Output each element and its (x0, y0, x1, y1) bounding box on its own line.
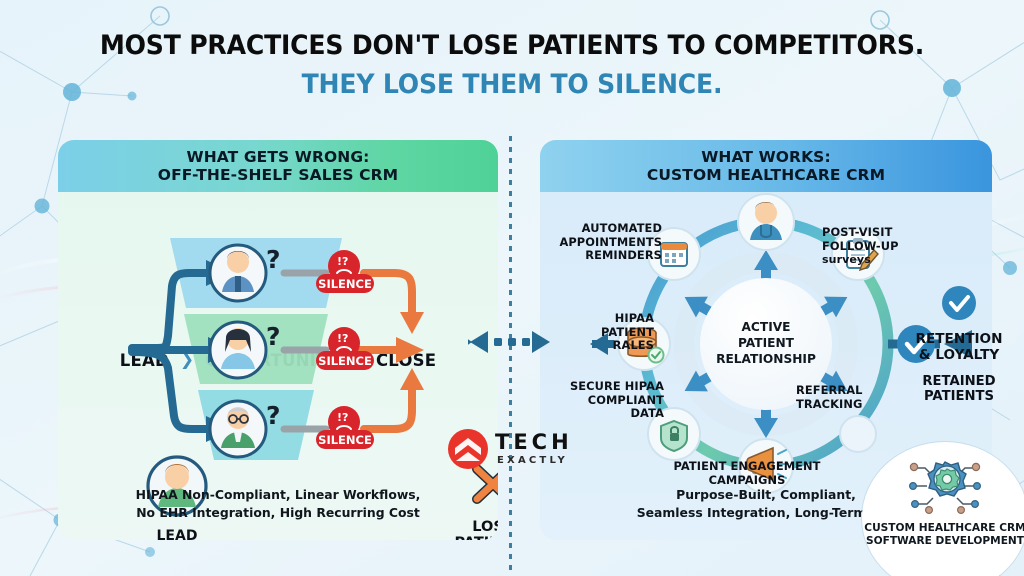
retention-outcome: RETENTION & LOYALTY RETAINED PATIENTS (900, 285, 1018, 405)
secure-line-2: COMPLIANT (546, 394, 664, 408)
auto-line-2: APPOINTMENTS (554, 236, 662, 250)
label-referral-tracking: REFERRAL TRACKING (796, 384, 896, 411)
left-footer-line-1: HIPAA Non-Compliant, Linear Workflows, (58, 486, 498, 504)
badge-caption: CUSTOM HEALTHCARE CRM SOFTWARE DEVELOPME… (864, 522, 1024, 548)
logo-name-top: TECH (495, 432, 573, 453)
left-panel-header-line-2: OFF-THE-SHELF SALES CRM (158, 166, 398, 184)
secure-line-1: SECURE HIPAA (546, 380, 664, 394)
right-panel-header-line-2: CUSTOM HEALTHCARE CRM (647, 166, 885, 184)
lost-patients-line-2: PATIENTS (443, 536, 498, 540)
gear-circuit-icon (903, 456, 987, 518)
right-panel-header-line-1: WHAT WORKS: (701, 148, 831, 166)
persona-avatar-2 (210, 322, 266, 378)
persona-avatar-1 (210, 245, 266, 301)
headline-line-1: MOST PRACTICES DON'T LOSE PATIENTS TO CO… (36, 30, 988, 61)
left-panel-header: WHAT GETS WRONG: OFF-THE-SHELF SALES CRM (58, 140, 498, 192)
referral-line-1: REFERRAL (796, 384, 896, 398)
lead-label: LEAD (146, 528, 208, 540)
lost-patients-line-1: LOST (443, 520, 498, 536)
hipaa-line-2: PATIENT (558, 326, 654, 340)
left-panel-footer: HIPAA Non-Compliant, Linear Workflows, N… (58, 486, 498, 522)
svg-text:!?: !? (337, 411, 348, 424)
tech-exactly-logo: TECH EXACTLY (447, 428, 573, 470)
auto-line-3: REMINDERS (554, 249, 662, 263)
svg-text:!?: !? (337, 255, 348, 268)
post-line-2: FOLLOW-UP (822, 240, 932, 254)
hipaa-line-1: HIPAA (558, 312, 654, 326)
hub-label: ACTIVE PATIENT RELATIONSHIP (706, 320, 826, 368)
svg-text:SILENCE: SILENCE (318, 354, 372, 368)
funnel-diagram: ? ? ? !? (58, 228, 498, 518)
retention-line-4: PATIENTS (900, 389, 1018, 404)
logo-mark-icon (447, 428, 489, 470)
label-hipaa-patient-rales: HIPAA PATIENT RALES (558, 312, 654, 353)
hub-line-2: PATIENT (706, 336, 826, 352)
question-mark-3: ? (266, 401, 281, 430)
label-automated-appointments: AUTOMATED APPOINTMENTS REMINDERS (554, 222, 662, 263)
headline-line-2: THEY LOSE THEM TO SILENCE. (36, 69, 988, 100)
lost-patients-label: LOST PATIENTS (443, 520, 498, 540)
badge-line-2: SOFTWARE DEVELOPMENT (864, 535, 1024, 548)
retention-line-1: RETENTION (900, 332, 1018, 348)
svg-text:SILENCE: SILENCE (318, 277, 372, 291)
secure-line-3: DATA (546, 407, 664, 421)
svg-text:SILENCE: SILENCE (318, 433, 372, 447)
left-panel-header-line-1: WHAT GETS WRONG: (187, 148, 370, 166)
post-sub: surveys (822, 253, 932, 266)
left-footer-line-2: No EHR Integration, High Recurring Cost (58, 504, 498, 522)
right-panel-header: WHAT WORKS: CUSTOM HEALTHCARE CRM (540, 140, 992, 192)
svg-text:!?: !? (337, 332, 348, 345)
question-mark-2: ? (266, 322, 281, 351)
hipaa-line-3: RALES (558, 339, 654, 353)
persona-avatar-3 (210, 401, 266, 457)
referral-line-2: TRACKING (796, 398, 896, 412)
engage-line-1: PATIENT ENGAGEMENT (652, 460, 842, 474)
bidirectional-arrow-icon (468, 327, 552, 357)
node-doctor-icon (738, 194, 794, 250)
hub-line-3: RELATIONSHIP (706, 352, 826, 368)
hub-line-1: ACTIVE (706, 320, 826, 336)
panel-off-the-shelf-crm: WHAT GETS WRONG: OFF-THE-SHELF SALES CRM… (58, 140, 498, 540)
retained-patients-label: RETAINED PATIENTS (900, 374, 1018, 404)
auto-line-1: AUTOMATED (554, 222, 662, 236)
label-secure-hipaa-data: SECURE HIPAA COMPLIANT DATA (546, 380, 664, 421)
post-line-1: POST-VISIT (822, 226, 932, 240)
question-mark-1: ? (266, 245, 281, 274)
check-circle-icon (941, 285, 977, 321)
retention-title: RETENTION & LOYALTY (900, 332, 1018, 363)
label-patient-engagement: PATIENT ENGAGEMENT CAMPAIGNS (652, 460, 842, 487)
headline: MOST PRACTICES DON'T LOSE PATIENTS TO CO… (0, 30, 1024, 100)
retention-line-3: RETAINED (900, 374, 1018, 389)
logo-name-bottom: EXACTLY (497, 456, 573, 466)
node-referral-marker (840, 416, 876, 452)
retention-line-2: & LOYALTY (900, 348, 1018, 364)
badge-line-1: CUSTOM HEALTHCARE CRM (864, 522, 1024, 535)
label-post-visit-followup: POST-VISIT FOLLOW-UP surveys (822, 226, 932, 267)
